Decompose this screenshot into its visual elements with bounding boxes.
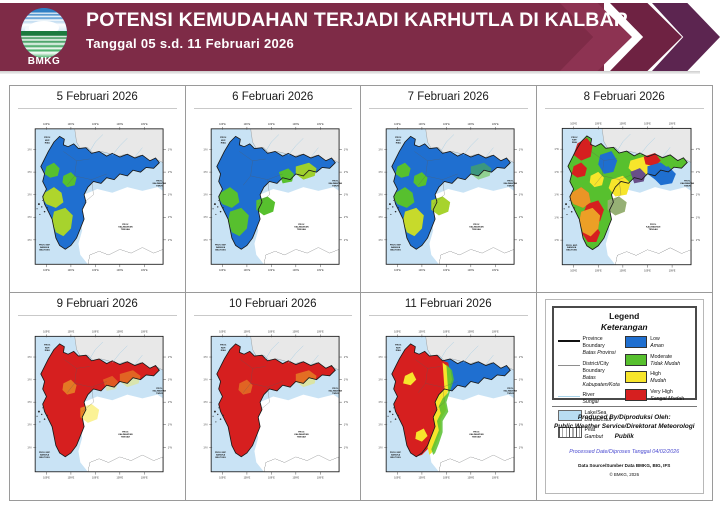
map-figure: PROV.KEP.RIAUPROV.KALIMANTANTENGAHPROV.K… — [549, 111, 701, 284]
svg-text:109°E: 109°E — [116, 476, 123, 479]
svg-text:109°E: 109°E — [268, 331, 275, 334]
svg-text:1°N: 1°N — [343, 194, 347, 197]
svg-text:1°N: 1°N — [168, 379, 172, 382]
svg-text:109°E: 109°E — [268, 123, 275, 126]
svg-text:109°E: 109°E — [92, 476, 99, 479]
svg-text:RIAU: RIAU — [220, 141, 226, 144]
legend-box: Legend Keterangan Province BoundaryBatas… — [552, 306, 698, 400]
svg-text:109°E: 109°E — [243, 331, 250, 334]
svg-text:TIMUR: TIMUR — [332, 185, 339, 187]
processed-date-line: Processed Date/Diproses Tanggal 04/02/20… — [552, 449, 698, 455]
svg-text:1°N: 1°N — [554, 216, 558, 219]
svg-text:1°N: 1°N — [343, 171, 347, 174]
svg-text:1°N: 1°N — [695, 216, 699, 219]
legend-item-river: RiverSungai — [558, 392, 624, 406]
svg-text:1°N: 1°N — [203, 356, 207, 359]
svg-text:TIMUR: TIMUR — [683, 185, 690, 187]
svg-text:BELITUNG: BELITUNG — [215, 249, 226, 251]
svg-text:1°N: 1°N — [378, 446, 382, 449]
svg-text:1°N: 1°N — [554, 171, 558, 174]
svg-text:1°N: 1°N — [378, 171, 382, 174]
credits-block: Produced By/Diproduksi Oleh: Public Weat… — [552, 406, 698, 489]
svg-text:109°E: 109°E — [141, 269, 148, 272]
svg-text:1°N: 1°N — [519, 356, 523, 359]
svg-text:109°E: 109°E — [43, 331, 50, 334]
svg-text:109°E: 109°E — [668, 123, 675, 126]
svg-text:109°E: 109°E — [68, 331, 75, 334]
risk-high-swatch-icon — [625, 371, 647, 383]
svg-text:1°N: 1°N — [519, 401, 523, 404]
copyright-line: © BMKG, 2026 — [552, 472, 698, 477]
svg-text:109°E: 109°E — [419, 123, 426, 126]
svg-text:1°N: 1°N — [168, 194, 172, 197]
svg-text:RIAU: RIAU — [571, 141, 577, 144]
svg-text:BELITUNG: BELITUNG — [390, 457, 401, 459]
legend-item-province-boundary: Province BoundaryBatas Provinsi — [558, 336, 624, 357]
svg-text:109°E: 109°E — [243, 269, 250, 272]
svg-text:TENGAH: TENGAH — [296, 228, 306, 231]
svg-text:109°E: 109°E — [467, 123, 474, 126]
svg-text:109°E: 109°E — [394, 269, 401, 272]
svg-text:109°E: 109°E — [92, 123, 99, 126]
svg-text:1°N: 1°N — [168, 401, 172, 404]
svg-text:1°N: 1°N — [343, 216, 347, 219]
svg-text:1°N: 1°N — [168, 216, 172, 219]
svg-text:109°E: 109°E — [68, 476, 75, 479]
svg-text:109°E: 109°E — [394, 476, 401, 479]
svg-text:109°E: 109°E — [492, 476, 499, 479]
svg-text:1°N: 1°N — [203, 216, 207, 219]
svg-text:109°E: 109°E — [141, 476, 148, 479]
svg-text:109°E: 109°E — [316, 331, 323, 334]
svg-text:KALIMANTAN: KALIMANTAN — [118, 433, 133, 436]
svg-text:109°E: 109°E — [419, 476, 426, 479]
svg-text:109°E: 109°E — [467, 476, 474, 479]
svg-text:1°N: 1°N — [695, 171, 699, 174]
svg-text:109°E: 109°E — [116, 269, 123, 272]
svg-text:1°N: 1°N — [27, 356, 31, 359]
svg-text:1°N: 1°N — [378, 424, 382, 427]
svg-text:TIMUR: TIMUR — [156, 393, 163, 395]
map-figure: PROV.KEP.RIAUPROV.KALIMANTANTENGAHPROV.K… — [373, 111, 524, 284]
svg-text:1°N: 1°N — [343, 379, 347, 382]
svg-text:109°E: 109°E — [292, 269, 299, 272]
svg-text:1°N: 1°N — [168, 239, 172, 242]
svg-text:1°N: 1°N — [168, 424, 172, 427]
svg-text:109°E: 109°E — [268, 476, 275, 479]
svg-text:BELITUNG: BELITUNG — [39, 249, 50, 251]
svg-text:109°E: 109°E — [116, 123, 123, 126]
svg-text:1°N: 1°N — [168, 356, 172, 359]
svg-text:1°N: 1°N — [378, 194, 382, 197]
svg-text:109°E: 109°E — [619, 123, 626, 126]
panel-title: 11 Februari 2026 — [361, 298, 536, 310]
svg-text:BELITUNG: BELITUNG — [566, 250, 577, 252]
svg-text:RIAU: RIAU — [45, 141, 51, 144]
svg-text:1°N: 1°N — [27, 424, 31, 427]
svg-text:109°E: 109°E — [594, 269, 601, 272]
svg-text:1°N: 1°N — [203, 171, 207, 174]
svg-text:109°E: 109°E — [219, 123, 226, 126]
svg-text:109°E: 109°E — [419, 331, 426, 334]
svg-text:1°N: 1°N — [343, 148, 347, 151]
svg-text:TENGAH: TENGAH — [121, 228, 131, 231]
river-swatch-icon — [558, 396, 580, 397]
svg-text:1°N: 1°N — [519, 424, 523, 427]
svg-text:1°N: 1°N — [378, 216, 382, 219]
svg-text:109°E: 109°E — [68, 123, 75, 126]
svg-text:BELITUNG: BELITUNG — [39, 457, 50, 459]
svg-text:109°E: 109°E — [668, 269, 675, 272]
svg-text:1°N: 1°N — [378, 239, 382, 242]
svg-text:109°E: 109°E — [492, 123, 499, 126]
map-panel-4[interactable]: 8 Februari 2026 PROV.KEP.RIAUPROV.KALIMA… — [537, 86, 713, 293]
panel-title: 5 Februari 2026 — [10, 91, 185, 103]
svg-text:1°N: 1°N — [27, 216, 31, 219]
risk-very-high-swatch-icon — [625, 389, 647, 401]
map-panel-6[interactable]: 10 Februari 2026 PROV.KEP.RIAUPROV.KALIM… — [186, 293, 362, 500]
svg-text:109°E: 109°E — [292, 123, 299, 126]
legend-title-id: Keterangan — [558, 322, 692, 333]
svg-text:109°E: 109°E — [43, 269, 50, 272]
svg-text:1°N: 1°N — [554, 194, 558, 197]
svg-text:1°N: 1°N — [519, 171, 523, 174]
svg-text:109°E: 109°E — [316, 123, 323, 126]
svg-text:TIMUR: TIMUR — [332, 393, 339, 395]
data-source-line: Data Source/Sumber Data BMKG, BIG, IFS — [552, 463, 698, 468]
svg-text:1°N: 1°N — [519, 446, 523, 449]
panel-title: 6 Februari 2026 — [186, 91, 361, 103]
svg-text:109°E: 109°E — [292, 331, 299, 334]
legend-item-low: LowAman — [625, 336, 691, 350]
risk-low-swatch-icon — [625, 336, 647, 348]
bmkg-logo-icon: BMKG — [13, 6, 75, 68]
map-panel-2[interactable]: 6 Februari 2026 PROV.KEP.RIAUPROV.KALIMA… — [186, 86, 362, 293]
svg-text:109°E: 109°E — [316, 269, 323, 272]
svg-text:1°N: 1°N — [378, 379, 382, 382]
legend-item-high: HighMudah — [625, 371, 691, 385]
svg-text:KALIMANTAN: KALIMANTAN — [469, 225, 484, 228]
svg-text:109°E: 109°E — [219, 269, 226, 272]
svg-text:109°E: 109°E — [619, 269, 626, 272]
svg-text:109°E: 109°E — [219, 331, 226, 334]
svg-text:1°N: 1°N — [168, 171, 172, 174]
panel-title: 8 Februari 2026 — [537, 91, 713, 103]
svg-text:1°N: 1°N — [203, 194, 207, 197]
svg-text:RIAU: RIAU — [396, 141, 402, 144]
map-panel-7[interactable]: 11 Februari 2026 PROV.KEP.RIAUPROV.KALIM… — [361, 293, 537, 500]
svg-text:TENGAH: TENGAH — [121, 435, 131, 438]
svg-text:109°E: 109°E — [92, 331, 99, 334]
svg-text:109°E: 109°E — [594, 123, 601, 126]
svg-text:109°E: 109°E — [644, 269, 651, 272]
map-panel-1[interactable]: 5 Februari 2026 PROV.KEP.RIAUPROV.KALIMA… — [10, 86, 186, 293]
svg-text:109°E: 109°E — [292, 476, 299, 479]
map-panel-3[interactable]: 7 Februari 2026 PROV.KEP.RIAUPROV.KALIMA… — [361, 86, 537, 293]
svg-text:1°N: 1°N — [168, 446, 172, 449]
svg-text:KALIMANTAN: KALIMANTAN — [294, 433, 309, 436]
svg-text:109°E: 109°E — [141, 331, 148, 334]
svg-text:109°E: 109°E — [268, 269, 275, 272]
svg-text:109°E: 109°E — [316, 476, 323, 479]
province-boundary-swatch-icon — [558, 340, 580, 342]
svg-text:TIMUR: TIMUR — [507, 185, 514, 187]
svg-text:109°E: 109°E — [394, 331, 401, 334]
svg-text:109°E: 109°E — [419, 269, 426, 272]
svg-text:1°N: 1°N — [343, 356, 347, 359]
svg-text:109°E: 109°E — [92, 269, 99, 272]
svg-text:1°N: 1°N — [519, 239, 523, 242]
svg-text:109°E: 109°E — [243, 476, 250, 479]
svg-text:TIMUR: TIMUR — [507, 393, 514, 395]
svg-text:109°E: 109°E — [492, 331, 499, 334]
svg-text:1°N: 1°N — [27, 171, 31, 174]
svg-text:1°N: 1°N — [203, 446, 207, 449]
svg-text:109°E: 109°E — [141, 123, 148, 126]
svg-text:KALIMANTAN: KALIMANTAN — [118, 225, 133, 228]
svg-text:KALIMANTAN: KALIMANTAN — [294, 225, 309, 228]
svg-text:1°N: 1°N — [27, 148, 31, 151]
svg-text:1°N: 1°N — [554, 148, 558, 151]
svg-text:1°N: 1°N — [343, 239, 347, 242]
map-panel-5[interactable]: 9 Februari 2026 PROV.KEP.RIAUPROV.KALIMA… — [10, 293, 186, 500]
svg-text:109°E: 109°E — [43, 123, 50, 126]
svg-text:TENGAH: TENGAH — [296, 435, 306, 438]
panel-title: 7 Februari 2026 — [361, 91, 536, 103]
legend-title-en: Legend — [609, 311, 639, 321]
svg-text:109°E: 109°E — [443, 476, 450, 479]
svg-text:1°N: 1°N — [203, 239, 207, 242]
svg-text:TENGAH: TENGAH — [472, 435, 482, 438]
svg-text:RIAU: RIAU — [45, 349, 51, 352]
svg-text:1°N: 1°N — [27, 379, 31, 382]
produced-by-line: Produced By/Diproduksi Oleh: — [552, 413, 698, 422]
svg-text:1°N: 1°N — [343, 401, 347, 404]
svg-text:RIAU: RIAU — [220, 349, 226, 352]
map-grid: 5 Februari 2026 PROV.KEP.RIAUPROV.KALIMA… — [9, 85, 713, 501]
svg-text:1°N: 1°N — [695, 148, 699, 151]
svg-text:109°E: 109°E — [43, 476, 50, 479]
svg-text:1°N: 1°N — [203, 379, 207, 382]
risk-moderate-swatch-icon — [625, 354, 647, 366]
svg-text:1°N: 1°N — [519, 194, 523, 197]
svg-text:1°N: 1°N — [378, 356, 382, 359]
svg-text:1°N: 1°N — [378, 401, 382, 404]
svg-text:TENGAH: TENGAH — [472, 228, 482, 231]
map-figure: PROV.KEP.RIAUPROV.KALIMANTANTENGAHPROV.K… — [22, 111, 173, 284]
svg-text:109°E: 109°E — [443, 331, 450, 334]
svg-text:1°N: 1°N — [519, 148, 523, 151]
district-boundary-swatch-icon — [558, 365, 580, 366]
svg-text:109°E: 109°E — [467, 269, 474, 272]
svg-text:1°N: 1°N — [27, 194, 31, 197]
svg-text:1°N: 1°N — [695, 194, 699, 197]
svg-text:109°E: 109°E — [443, 123, 450, 126]
page-title: POTENSI KEMUDAHAN TERJADI KARHUTLA DI KA… — [86, 9, 628, 32]
svg-text:1°N: 1°N — [203, 401, 207, 404]
svg-text:1°N: 1°N — [168, 148, 172, 151]
svg-text:109°E: 109°E — [443, 269, 450, 272]
svg-text:1°N: 1°N — [554, 239, 558, 242]
svg-text:1°N: 1°N — [378, 148, 382, 151]
panel-title: 10 Februari 2026 — [186, 298, 361, 310]
svg-text:109°E: 109°E — [68, 269, 75, 272]
svg-text:1°N: 1°N — [27, 401, 31, 404]
svg-text:109°E: 109°E — [243, 123, 250, 126]
svg-text:109°E: 109°E — [116, 331, 123, 334]
svg-text:TENGAH: TENGAH — [648, 228, 658, 231]
svg-text:109°E: 109°E — [394, 123, 401, 126]
svg-text:109°E: 109°E — [570, 269, 577, 272]
svg-text:1°N: 1°N — [203, 148, 207, 151]
legend-item-very-high: Very HighSangat Mudah — [625, 389, 691, 403]
legend-item-district-boundary: District/City BoundaryBatas Kabupaten/Ko… — [558, 361, 624, 389]
panel-title: 9 Februari 2026 — [10, 298, 185, 310]
svg-text:RIAU: RIAU — [396, 349, 402, 352]
page-header: BMKG POTENSI KEMUDAHAN TERJADI KARHUTLA … — [0, 0, 720, 74]
svg-text:BELITUNG: BELITUNG — [390, 249, 401, 251]
svg-text:109°E: 109°E — [644, 123, 651, 126]
svg-text:KALIMANTAN: KALIMANTAN — [469, 433, 484, 436]
map-figure: PROV.KEP.RIAUPROV.KALIMANTANTENGAHPROV.K… — [22, 318, 173, 492]
svg-text:109°E: 109°E — [570, 123, 577, 126]
page-subtitle: Tanggal 05 s.d. 11 Februari 2026 — [86, 36, 294, 51]
svg-text:1°N: 1°N — [519, 216, 523, 219]
svg-text:1°N: 1°N — [343, 446, 347, 449]
svg-text:1°N: 1°N — [203, 424, 207, 427]
svg-text:BELITUNG: BELITUNG — [215, 457, 226, 459]
svg-text:109°E: 109°E — [492, 269, 499, 272]
map-figure: PROV.KEP.RIAUPROV.KALIMANTANTENGAHPROV.K… — [198, 318, 349, 492]
svg-text:1°N: 1°N — [519, 379, 523, 382]
legend-panel: Legend Keterangan Province BoundaryBatas… — [537, 293, 713, 500]
legend-item-moderate: ModerateTidak Mudah — [625, 354, 691, 368]
svg-text:1°N: 1°N — [27, 446, 31, 449]
svg-text:109°E: 109°E — [467, 331, 474, 334]
svg-text:1°N: 1°N — [343, 424, 347, 427]
karhutla-forecast-page: BMKG POTENSI KEMUDAHAN TERJADI KARHUTLA … — [0, 0, 720, 508]
svg-text:KALIMANTAN: KALIMANTAN — [646, 226, 661, 229]
svg-text:1°N: 1°N — [695, 239, 699, 242]
svg-text:109°E: 109°E — [219, 476, 226, 479]
svg-text:1°N: 1°N — [27, 239, 31, 242]
map-figure: PROV.KEP.RIAUPROV.KALIMANTANTENGAHPROV.K… — [373, 318, 524, 492]
produced-by-org-line: Public Weather Service/Direktorat Meteor… — [552, 422, 698, 441]
bmkg-logo-label: BMKG — [13, 56, 75, 67]
svg-text:TIMUR: TIMUR — [156, 185, 163, 187]
map-figure: PROV.KEP.RIAUPROV.KALIMANTANTENGAHPROV.K… — [198, 111, 349, 284]
